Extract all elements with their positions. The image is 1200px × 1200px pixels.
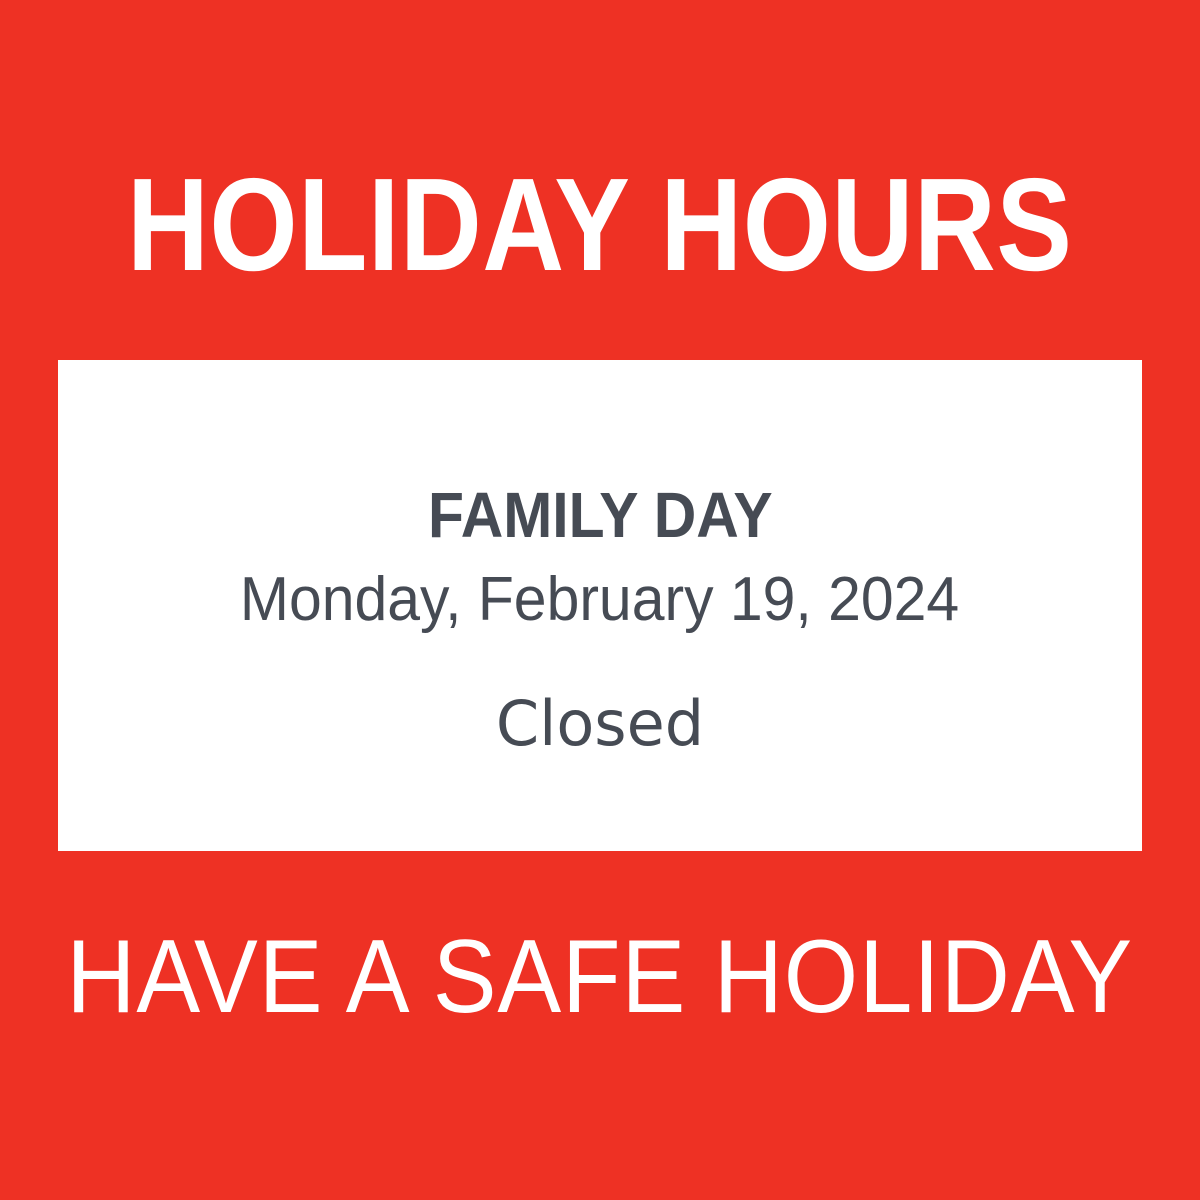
status-badge: Closed	[496, 693, 704, 755]
headline-banner: HOLIDAY HOURS	[0, 150, 1200, 300]
holiday-hours-poster: HOLIDAY HOURS FAMILY DAY Monday, Februar…	[0, 0, 1200, 1200]
holiday-date: Monday, February 19, 2024	[240, 569, 959, 631]
page-title: HOLIDAY HOURS	[127, 159, 1072, 291]
holiday-info-card: FAMILY DAY Monday, February 19, 2024 Clo…	[58, 360, 1142, 851]
holiday-info-card-content: FAMILY DAY Monday, February 19, 2024 Clo…	[58, 360, 1142, 755]
holiday-name: FAMILY DAY	[428, 483, 773, 547]
footer-banner: HAVE A SAFE HOLIDAY	[0, 912, 1200, 1042]
footer-message: HAVE A SAFE HOLIDAY	[67, 925, 1134, 1029]
